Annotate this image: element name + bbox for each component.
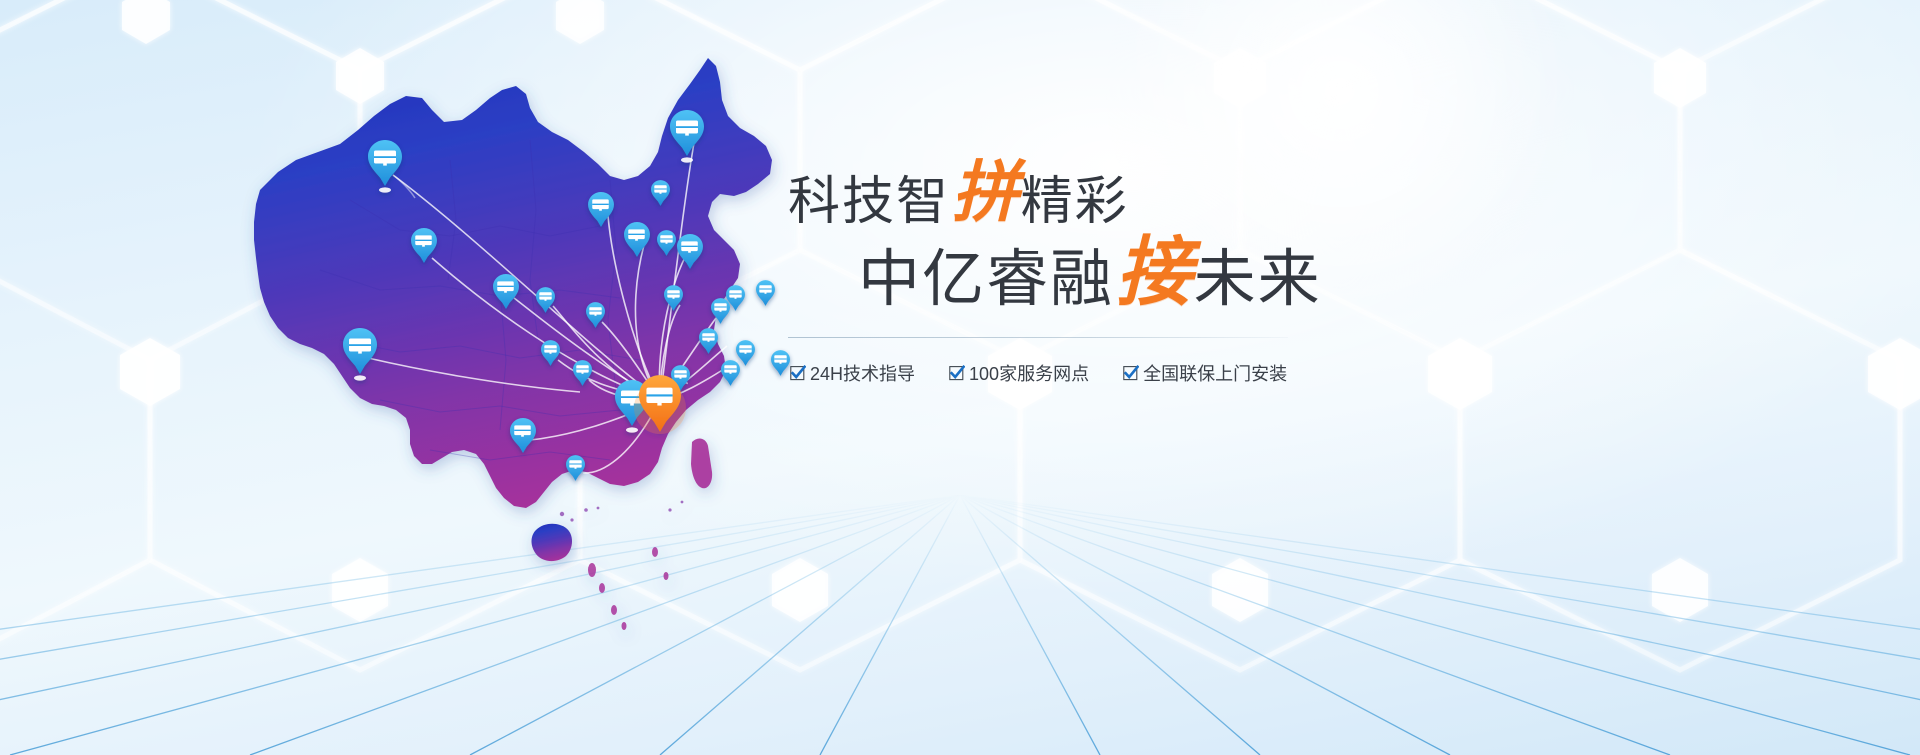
feature-label: 100家服务网点	[969, 360, 1089, 386]
feature-item-24h-support: 24H技术指导	[790, 360, 915, 386]
china-map	[200, 40, 820, 640]
promo-banner: 科技智拼精彩 中亿睿融接未来 24H技术指导	[0, 0, 1920, 755]
headline-line2-accent: 接	[1114, 236, 1194, 312]
headline-divider	[788, 337, 1288, 338]
banner-content: 科技智拼精彩 中亿睿融接未来 24H技术指导	[780, 165, 1380, 386]
feature-item-service-points: 100家服务网点	[949, 360, 1089, 386]
headline-line-2: 中亿睿融接未来	[780, 238, 1380, 314]
feature-label: 全国联保上门安装	[1143, 360, 1287, 386]
feature-list: 24H技术指导 100家服务网点 全国联保上	[790, 360, 1380, 386]
checkbox-checked-icon	[949, 365, 965, 381]
headline-line-1: 科技智拼精彩	[780, 165, 1380, 232]
feature-item-nationwide-install: 全国联保上门安装	[1123, 360, 1287, 386]
headline-line2-post: 未来	[1194, 249, 1322, 311]
headline-line1-post: 精彩	[1021, 176, 1129, 228]
headline-line2-pre: 中亿睿融	[858, 249, 1114, 311]
headline: 科技智拼精彩 中亿睿融接未来	[780, 165, 1380, 313]
headline-line1-pre: 科技智	[788, 176, 950, 228]
checkbox-checked-icon	[790, 365, 806, 381]
checkbox-checked-icon	[1123, 365, 1139, 381]
headline-line1-accent: 拼	[950, 161, 1021, 228]
feature-label: 24H技术指导	[810, 360, 915, 386]
